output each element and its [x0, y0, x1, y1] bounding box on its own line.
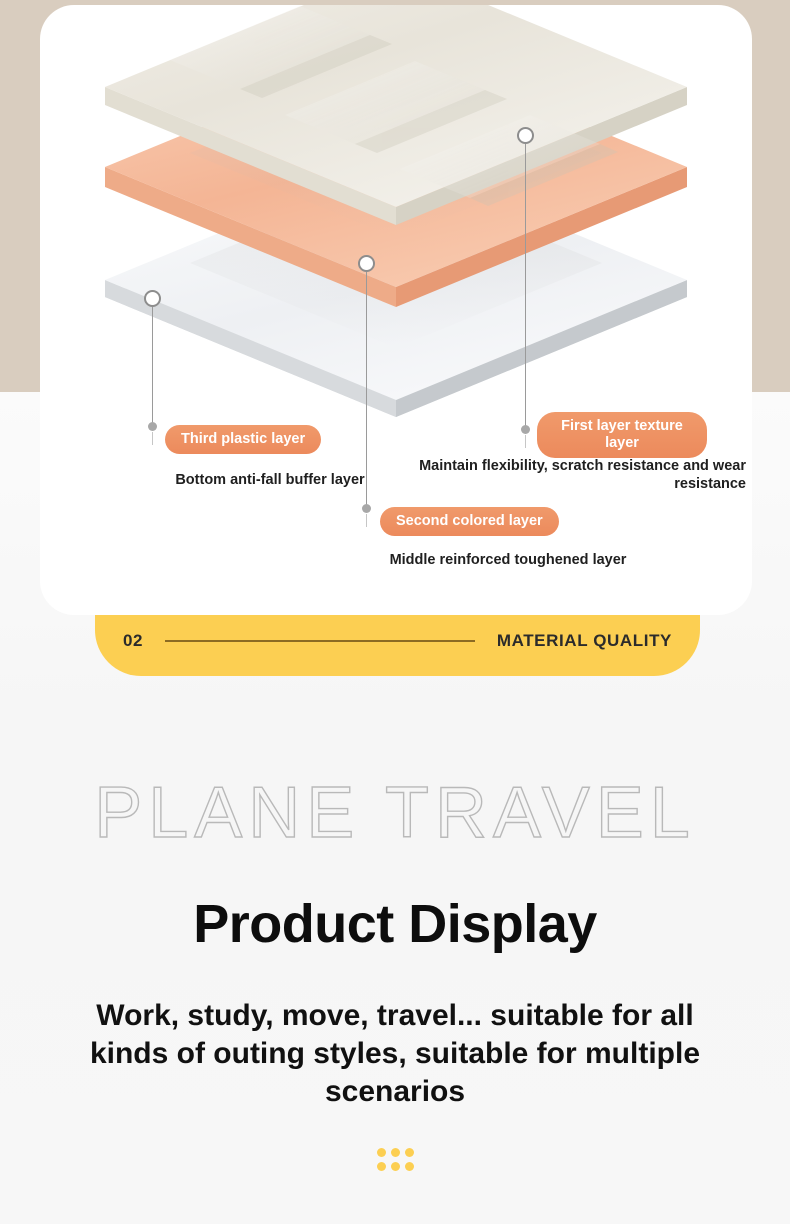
- leader-dot-bottom: [148, 422, 157, 431]
- section-banner-content: 02 MATERIAL QUALITY: [95, 624, 700, 658]
- callout-pill-first-layer-texture-layer[interactable]: First layer texture layer: [537, 412, 707, 458]
- leader-stub-middle: [366, 514, 368, 527]
- callout-caption-first-layer-texture-layer: Maintain flexibility, scratch resistance…: [410, 457, 746, 493]
- ornament-dot: [377, 1148, 386, 1157]
- outline-headline: PLANE TRAVEL: [0, 772, 790, 854]
- leader-line-top: [525, 144, 527, 426]
- leader-stub-top: [525, 435, 527, 448]
- layer-marker-ring-middle[interactable]: [358, 255, 375, 272]
- callout-pill-third-plastic-layer[interactable]: Third plastic layer: [165, 425, 321, 454]
- page-subtitle: Work, study, move, travel... suitable fo…: [55, 997, 735, 1111]
- layer-marker-ring-top[interactable]: [517, 127, 534, 144]
- page-title: Product Display: [0, 893, 790, 955]
- ornament-dot: [405, 1148, 414, 1157]
- leader-dot-top: [521, 425, 530, 434]
- layer-marker-ring-bottom[interactable]: [144, 290, 161, 307]
- ornament-dot: [377, 1162, 386, 1171]
- dots-grid: [377, 1148, 414, 1171]
- ornament-dot: [391, 1148, 400, 1157]
- leader-line-bottom: [152, 307, 154, 425]
- material-diagram-card: Third plastic layer Bottom anti-fall buf…: [40, 5, 752, 615]
- exploded-layer-illustration: [40, 5, 752, 425]
- product-display-page: 02 MATERIAL QUALITY: [0, 0, 790, 1224]
- leader-stub-bottom: [152, 432, 154, 445]
- callout-caption-second-colored-layer: Middle reinforced toughened layer: [368, 551, 648, 569]
- callout-pill-second-colored-layer[interactable]: Second colored layer: [380, 507, 559, 536]
- ornament-dot: [405, 1162, 414, 1171]
- ornament-dot: [391, 1162, 400, 1171]
- section-divider-line: [165, 640, 475, 642]
- leader-dot-middle: [362, 504, 371, 513]
- section-title: MATERIAL QUALITY: [497, 631, 672, 651]
- dots-ornament: [0, 1148, 790, 1171]
- section-number: 02: [123, 631, 143, 651]
- callout-caption-third-plastic-layer: Bottom anti-fall buffer layer: [160, 471, 380, 489]
